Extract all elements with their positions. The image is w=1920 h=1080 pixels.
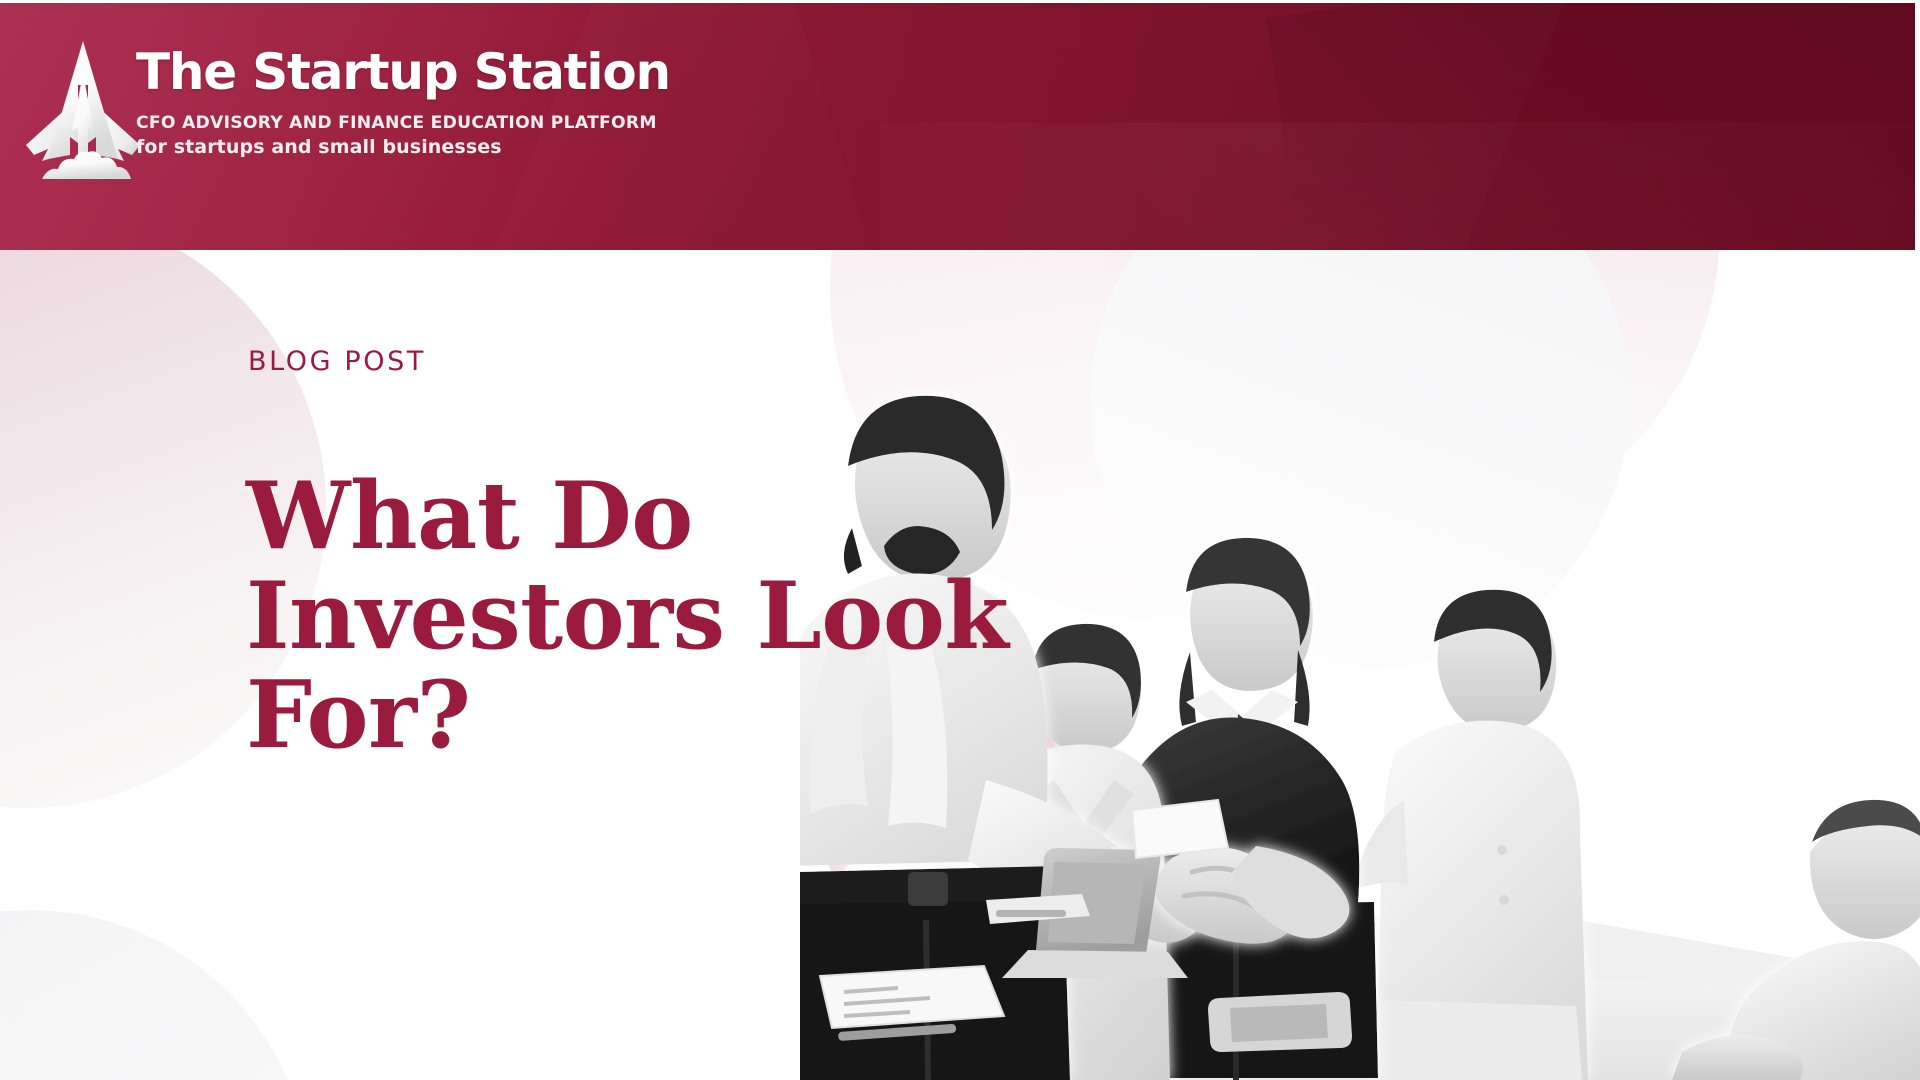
brand-block: The Startup Station CFO ADVISORY AND FIN… (136, 47, 670, 158)
page-title-line-1: What Do (246, 466, 946, 566)
brand-tagline-primary: CFO ADVISORY AND FINANCE EDUCATION PLATF… (136, 113, 670, 133)
decor-blob-bottom-left (0, 910, 310, 1080)
brand-tagline-secondary: for startups and small businesses (136, 136, 670, 158)
site-header-banner: The Startup Station CFO ADVISORY AND FIN… (0, 3, 1915, 250)
brand-name: The Startup Station (136, 47, 670, 97)
rocket-arrow-icon (22, 33, 144, 181)
business-handshake-photo (800, 380, 1920, 1080)
page-title-line-2: Investors Look (246, 566, 946, 666)
hero-section: BLOG POST What Do Investors Look For? (0, 250, 1920, 1080)
header-shadow-wedge-decor (1267, 3, 1915, 250)
page-title: What Do Investors Look For? (246, 466, 946, 765)
blog-post-eyebrow-label: BLOG POST (248, 346, 426, 377)
page-title-line-3: For? (246, 665, 946, 765)
blog-post-hero-page: The Startup Station CFO ADVISORY AND FIN… (0, 0, 1920, 1080)
header-sheen-decor-c (880, 123, 1915, 250)
